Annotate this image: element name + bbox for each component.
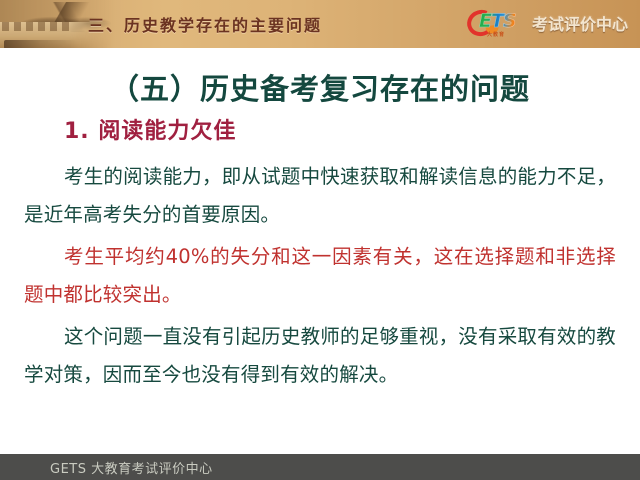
header-band: 三、历史教学存在的主要问题 ETS 大教育 考试评价中心 — [0, 0, 640, 48]
photo-crenel — [38, 22, 45, 31]
photo-shadow — [4, 40, 78, 48]
ets-logo-subtext: 大教育 — [487, 31, 505, 38]
photo-crenel — [14, 22, 21, 31]
slide-canvas: 三、历史教学存在的主要问题 ETS 大教育 考试评价中心 （五）历史备考复习存在… — [0, 0, 640, 480]
ets-logo-mark-icon: ETS 大教育 — [467, 9, 529, 37]
photo-crenel — [50, 22, 57, 31]
header-section-title: 三、历史教学存在的主要问题 — [88, 12, 322, 36]
photo-crenel — [62, 22, 69, 31]
footer-bar: GETS 大教育考试评价中心 — [0, 454, 640, 480]
body-content: 考生的阅读能力，即从试题中快速获取和解读信息的能力不足，是近年高考失分的首要原因… — [24, 158, 616, 398]
sub-heading: 1. 阅读能力欠佳 — [64, 113, 236, 145]
page-title: （五）历史备考复习存在的问题 — [0, 66, 640, 108]
photo-crenel — [2, 22, 9, 31]
ets-logo-brand-cn: 考试评价中心 — [532, 11, 628, 35]
ets-logo-letters: ETS — [479, 11, 516, 31]
footer-brand-text: GETS 大教育考试评价中心 — [50, 458, 213, 477]
photo-crenel — [26, 22, 33, 31]
paragraph-3: 这个问题一直没有引起历史教师的足够重视，没有采取有效的教学对策，因而至今也没有得… — [24, 318, 616, 394]
paragraph-1: 考生的阅读能力，即从试题中快速获取和解读信息的能力不足，是近年高考失分的首要原因… — [24, 158, 616, 234]
ets-logo: ETS 大教育 考试评价中心 — [467, 8, 628, 38]
paragraph-2-highlight: 考生平均约40%的失分和这一因素有关，这在选择题和非选择题中都比较突出。 — [24, 238, 616, 314]
